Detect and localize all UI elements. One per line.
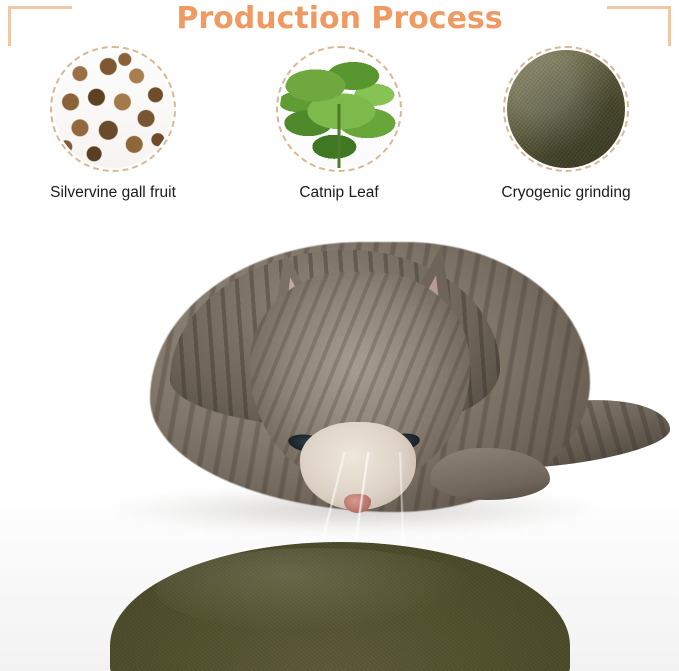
process-step-grinding: Cryogenic grinding (453, 46, 679, 202)
silvervine-texture (54, 50, 172, 168)
process-step-label: Cryogenic grinding (453, 184, 679, 202)
catnip-powder-pile (110, 542, 570, 671)
silvervine-gall-fruit-photo (50, 46, 176, 172)
process-step-silvervine: Silvervine gall fruit (0, 46, 226, 202)
product-infographic: Production Process Silvervine gall fruit… (0, 0, 679, 671)
page-title: Production Process (0, 0, 679, 38)
catnip-photo-inner (280, 50, 398, 168)
cryogenic-ground-powder-photo (503, 46, 629, 172)
process-step-label: Catnip Leaf (226, 184, 452, 202)
powder-photo-inner (507, 50, 625, 168)
process-steps-row: Silvervine gall fruit Catnip Leaf Cryoge… (0, 46, 679, 222)
process-step-catnip: Catnip Leaf (226, 46, 452, 202)
catnip-texture (280, 50, 398, 168)
silvervine-photo-inner (54, 50, 172, 168)
cat-sniffing-catnip-powder-photo (0, 222, 679, 671)
catnip-stem (338, 104, 341, 168)
process-step-label: Silvervine gall fruit (0, 184, 226, 202)
powder-texture (507, 50, 625, 168)
catnip-leaf-photo (276, 46, 402, 172)
